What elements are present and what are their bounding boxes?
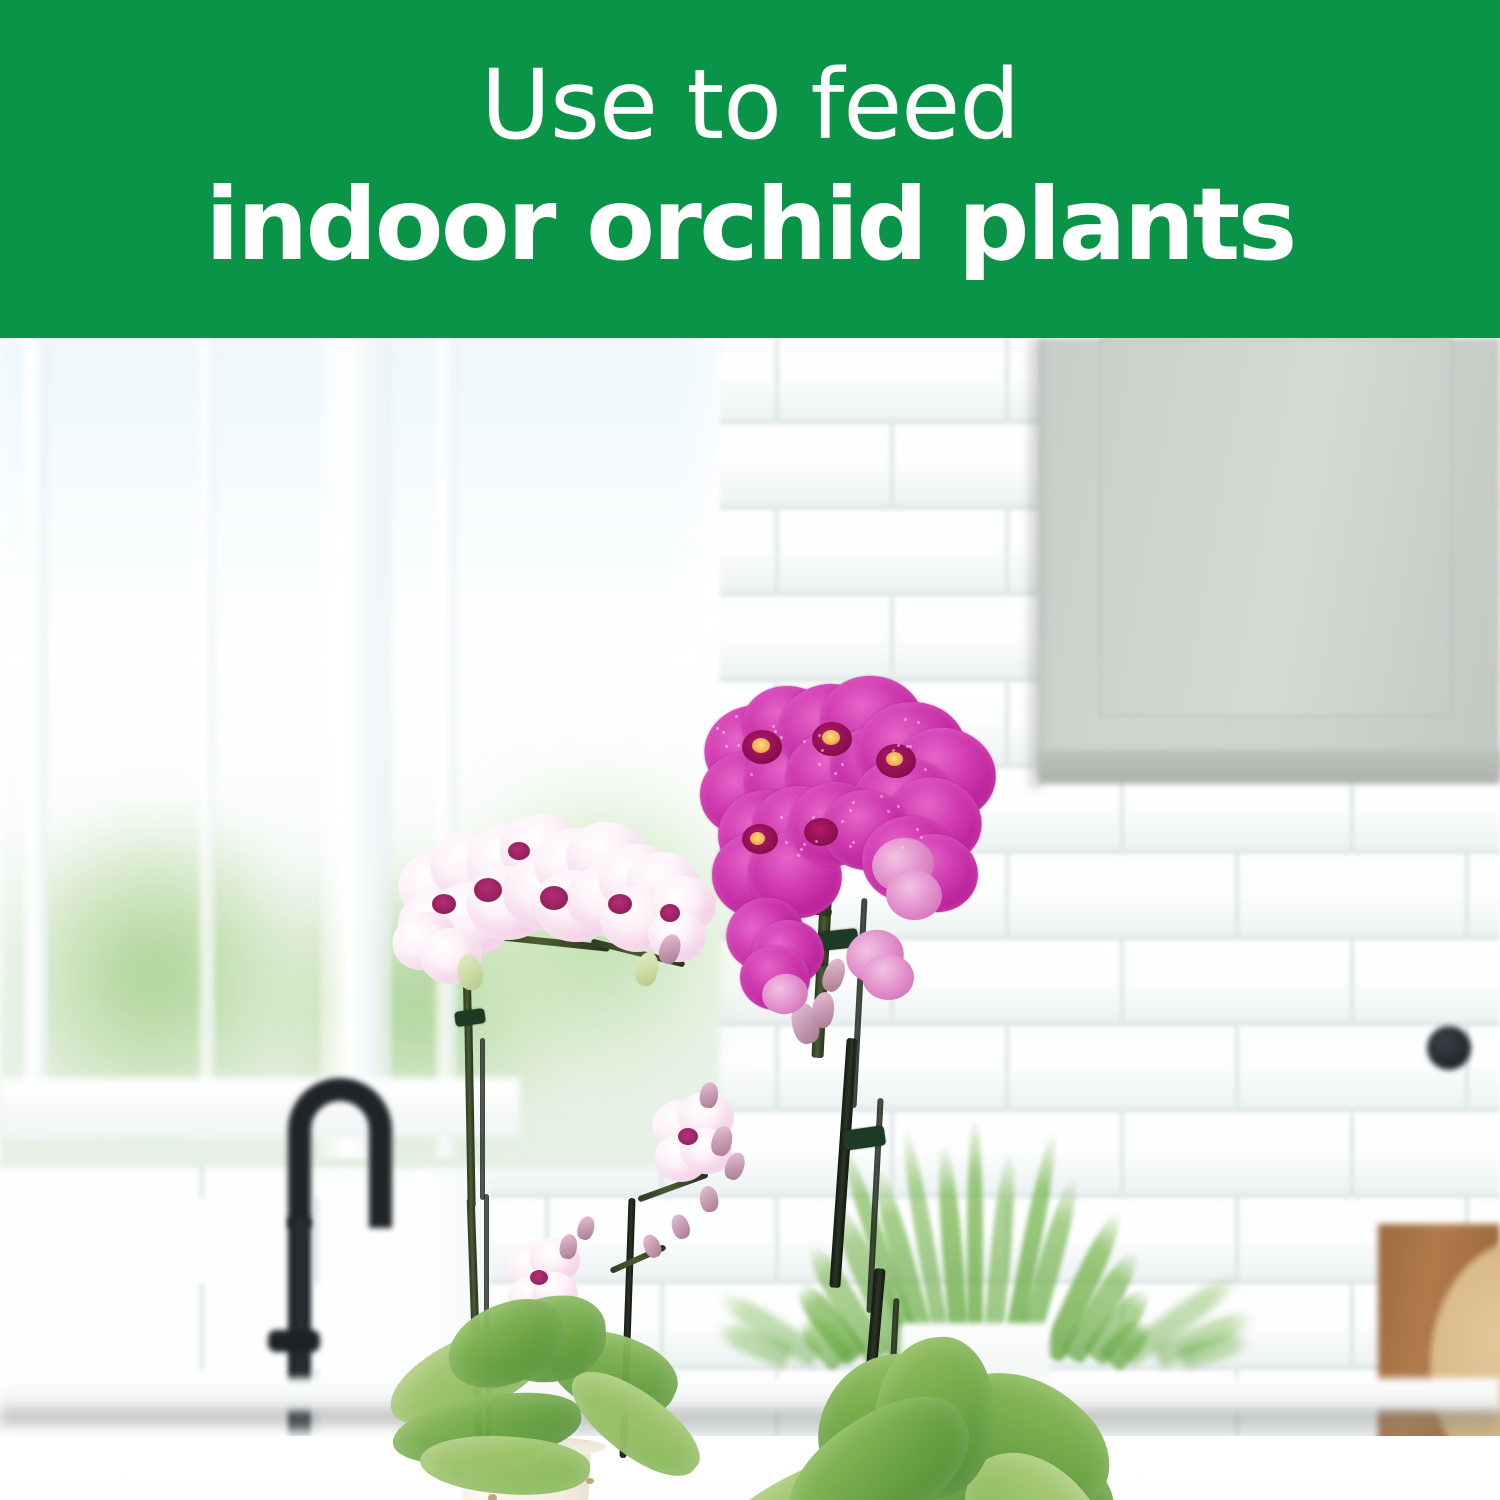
petal-speckle [774, 730, 777, 733]
rustic-speck [586, 1478, 594, 1484]
tile-seam [1120, 1112, 1124, 1198]
window-mullion [320, 338, 392, 1158]
flower-lip [508, 842, 530, 860]
flower-column [750, 832, 765, 845]
petal-speckle [737, 744, 740, 747]
window-mullion [198, 338, 216, 1138]
tile-seam [1350, 1112, 1354, 1198]
tile-seam [775, 1026, 779, 1112]
tile-seam [890, 1112, 894, 1198]
petal-speckle [818, 734, 821, 737]
flower-lip [804, 818, 838, 846]
petal-speckle [892, 749, 895, 752]
petal-speckle [917, 721, 920, 724]
flower-lip [660, 904, 680, 922]
tile-seam [1350, 940, 1354, 1026]
flower-lip [540, 886, 568, 910]
flower-lip [474, 878, 502, 902]
headline-line-1: Use to feed [481, 57, 1020, 153]
rustic-speck [488, 1494, 497, 1500]
tile-seam [1350, 1284, 1354, 1370]
tile-seam [890, 424, 894, 510]
support-cane [480, 1038, 485, 1200]
tile-seam [1005, 1026, 1009, 1112]
kitchen-orchid-photo [0, 338, 1500, 1500]
petal-speckle [818, 763, 821, 766]
tile-row [430, 1198, 1500, 1284]
flower-lip [608, 894, 632, 914]
tile-seam [200, 1284, 204, 1370]
window-sill [0, 1078, 520, 1138]
window-mullion [22, 338, 48, 1138]
flower-column [822, 730, 840, 745]
tile-seam [1005, 854, 1009, 940]
flower-lip [678, 1128, 698, 1145]
cabinet-panel [1100, 338, 1452, 716]
tile-seam [1465, 854, 1469, 940]
headline-banner: Use to feed indoor orchid plants [0, 0, 1500, 338]
tile-seam [1005, 338, 1009, 424]
tile-seam [1235, 854, 1239, 940]
promo-image: Use to feed indoor orchid plants [0, 0, 1500, 1500]
petal-speckle [780, 736, 783, 739]
headline-line-2: indoor orchid plants [205, 175, 1295, 275]
countertop [0, 1436, 1500, 1500]
flower-lip [432, 894, 456, 914]
backsplash-ledge [0, 1378, 1500, 1412]
tile-seam [1005, 682, 1009, 768]
tile-seam [890, 596, 894, 682]
cabinet-rail [1038, 750, 1500, 784]
flower-column [752, 738, 770, 753]
cabinet-knob-icon [1427, 1026, 1471, 1070]
flower-lip [530, 1270, 548, 1285]
petal-speckle [834, 772, 837, 775]
petal-speckle [785, 841, 788, 844]
tile-seam [1120, 940, 1124, 1026]
tile-seam [1005, 510, 1009, 596]
petal-speckle [821, 749, 824, 752]
tile-seam [1235, 1026, 1239, 1112]
petal-speckle [924, 768, 927, 771]
flower-column [886, 752, 903, 766]
tile-seam [775, 338, 779, 424]
petal-speckle [897, 805, 900, 808]
petal-speckle [800, 848, 803, 851]
window-mullion [434, 338, 458, 1158]
tile-seam [775, 1198, 779, 1284]
faucet-spout [288, 1078, 392, 1228]
tile-seam [775, 510, 779, 596]
cabinet-shadow [1030, 338, 1046, 788]
faucet-handle [268, 1330, 320, 1352]
tile-seam [1235, 1198, 1239, 1284]
petal-speckle [815, 840, 818, 843]
petal-speckle [852, 801, 855, 804]
